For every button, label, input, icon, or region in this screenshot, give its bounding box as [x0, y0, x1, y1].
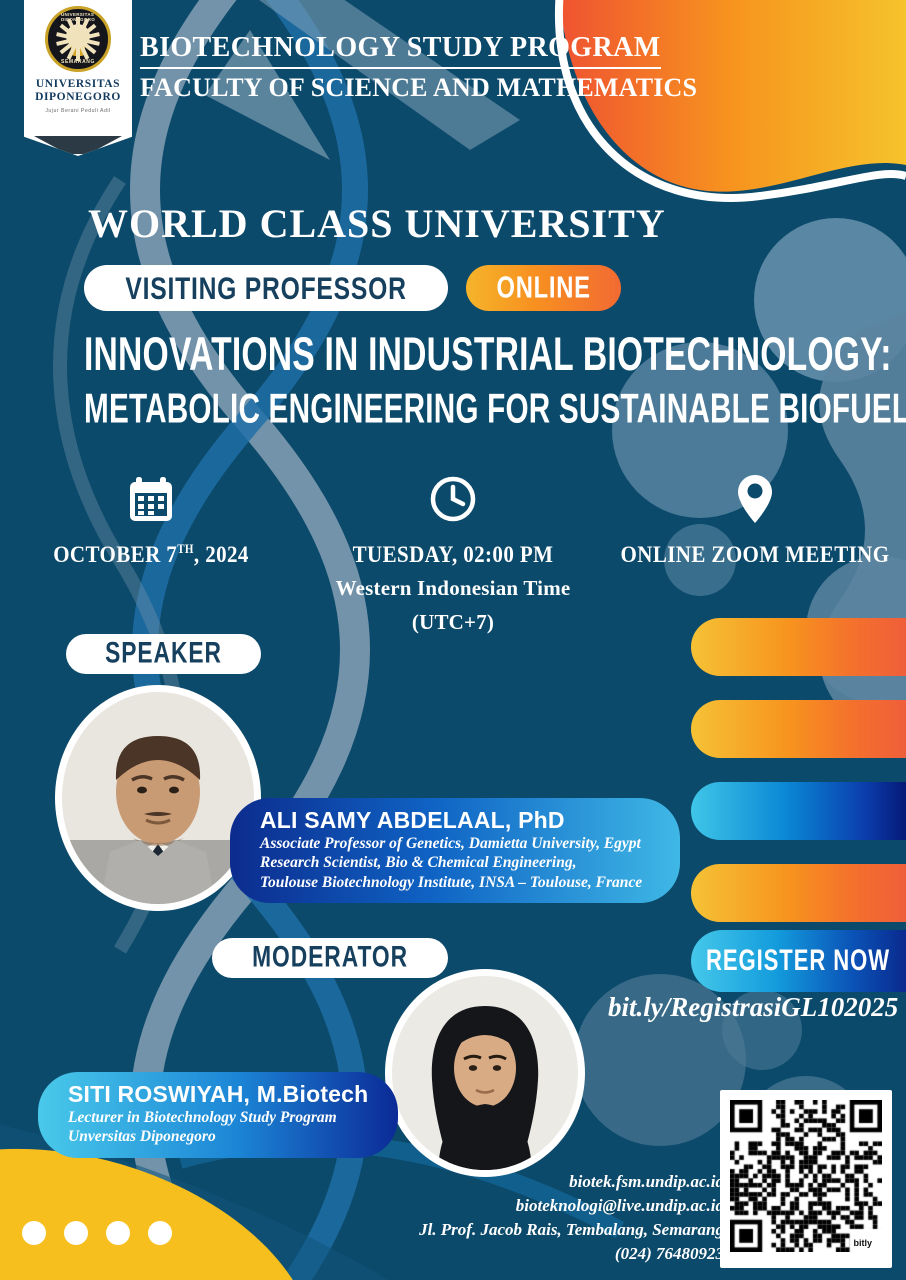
program-title: WORLD CLASS UNIVERSITY: [88, 200, 666, 247]
decorative-bar-blue: [691, 782, 906, 840]
badge-online: ONLINE: [466, 265, 621, 311]
event-date-year: , 2024: [194, 541, 249, 568]
decorative-dots: [22, 1221, 172, 1245]
decorative-bar-orange-2: [691, 700, 906, 758]
location-pin-icon: [737, 472, 773, 526]
speaker-affiliation-line-1: Associate Professor of Genetics, Damiett…: [260, 835, 654, 853]
dot: [22, 1221, 46, 1245]
university-logo-banner: UNIVERSITAS DIPONEGORO SEMARANG UNIVERSI…: [24, 0, 132, 156]
speaker-avatar: [62, 692, 254, 904]
event-time-line-2: Western Indonesian Time: [336, 576, 571, 601]
logo-university-name: UNIVERSITAS DIPONEGORO: [35, 78, 121, 104]
moderator-label: MODERATOR: [252, 941, 408, 976]
org-line-2: FACULTY OF SCIENCE AND MATHEMATICS: [140, 73, 560, 103]
event-date-text: OCTOBER 7TH, 2024: [53, 542, 249, 567]
contact-website[interactable]: biotek.fsm.undip.ac.id: [419, 1170, 724, 1194]
event-date-monthday: OCTOBER 7: [53, 541, 177, 568]
contact-email[interactable]: bioteknologi@live.undip.ac.id: [419, 1194, 724, 1218]
speaker-affiliation-line-2: Research Scientist, Bio & Chemical Engin…: [260, 854, 654, 872]
logo-tagline: Jujur Berani Peduli Adil: [45, 108, 110, 114]
dot: [106, 1221, 130, 1245]
registration-link[interactable]: bit.ly/RegistrasiGL102025: [608, 992, 898, 1023]
diponegoro-crest-icon: UNIVERSITAS DIPONEGORO SEMARANG: [45, 6, 111, 72]
speaker-name-banner: ALI SAMY ABDELAAL, PhD Associate Profess…: [230, 798, 680, 903]
event-place-block: ONLINE ZOOM MEETING: [604, 472, 906, 635]
event-date-ordinal: TH: [177, 543, 194, 556]
moderator-name: SITI ROSWIYAH, M.Biotech: [68, 1081, 372, 1108]
event-title-line-2: METABOLIC ENGINEERING FOR SUSTAINABLE BI…: [84, 387, 888, 434]
event-title: INNOVATIONS IN INDUSTRIAL BIOTECHNOLOGY:…: [84, 336, 896, 427]
poster-canvas: UNIVERSITAS DIPONEGORO SEMARANG UNIVERSI…: [0, 0, 906, 1280]
contact-info: biotek.fsm.undip.ac.id bioteknologi@live…: [419, 1170, 724, 1267]
speaker-label-pill: SPEAKER: [66, 634, 261, 674]
qr-code[interactable]: bitly: [720, 1090, 892, 1268]
moderator-affiliation-line-2: Unversitas Diponegoro: [68, 1128, 372, 1146]
event-place-line-1: ONLINE ZOOM MEETING: [621, 541, 890, 569]
decorative-bar-orange-3: [691, 864, 906, 922]
register-now-button[interactable]: REGISTER NOW: [691, 930, 906, 992]
organization-heading: BIOTECHNOLOGY STUDY PROGRAM FACULTY OF S…: [140, 32, 560, 103]
qr-code-canvas: [730, 1100, 882, 1252]
badge-row: VISITING PROFESSOR ONLINE: [84, 265, 621, 311]
logo-name-line1: UNIVERSITAS: [35, 78, 121, 91]
clock-icon: [430, 472, 476, 526]
org-line-1: BIOTECHNOLOGY STUDY PROGRAM: [140, 32, 661, 69]
badge-online-label: ONLINE: [497, 270, 591, 305]
dot: [148, 1221, 172, 1245]
contact-address: Jl. Prof. Jacob Rais, Tembalang, Semaran…: [419, 1218, 724, 1242]
event-info-row: OCTOBER 7TH, 2024 TUESDAY, 02:00 PM West…: [0, 472, 906, 635]
event-time-line-1: TUESDAY, 02:00 PM: [336, 541, 571, 569]
badge-visiting-professor: VISITING PROFESSOR: [84, 265, 448, 311]
register-now-label: REGISTER NOW: [706, 944, 890, 979]
event-place-text: ONLINE ZOOM MEETING: [621, 542, 890, 567]
moderator-label-pill: MODERATOR: [212, 938, 448, 978]
event-time-text: TUESDAY, 02:00 PM Western Indonesian Tim…: [336, 542, 571, 635]
badge-visiting-professor-label: VISITING PROFESSOR: [125, 269, 406, 307]
event-time-line-3: (UTC+7): [336, 610, 571, 635]
moderator-name-banner: SITI ROSWIYAH, M.Biotech Lecturer in Bio…: [38, 1072, 398, 1158]
event-time-block: TUESDAY, 02:00 PM Western Indonesian Tim…: [302, 472, 604, 635]
event-date-line: OCTOBER 7TH, 2024: [53, 541, 249, 569]
speaker-name: ALI SAMY ABDELAAL, PhD: [260, 807, 654, 834]
speaker-label: SPEAKER: [105, 637, 222, 672]
speaker-affiliation-line-3: Toulouse Biotechnology Institute, INSA –…: [260, 874, 654, 892]
logo-name-line2: DIPONEGORO: [35, 91, 121, 104]
contact-phone: (024) 76480923: [419, 1242, 724, 1266]
event-title-line-1: INNOVATIONS IN INDUSTRIAL BIOTECHNOLOGY:: [84, 329, 888, 383]
moderator-affiliation-line-1: Lecturer in Biotechnology Study Program: [68, 1109, 372, 1127]
calendar-icon: [129, 472, 173, 526]
qr-brand-label: bitly: [853, 1238, 872, 1248]
event-date-block: OCTOBER 7TH, 2024: [0, 472, 302, 635]
moderator-avatar: [392, 976, 578, 1170]
dot: [64, 1221, 88, 1245]
